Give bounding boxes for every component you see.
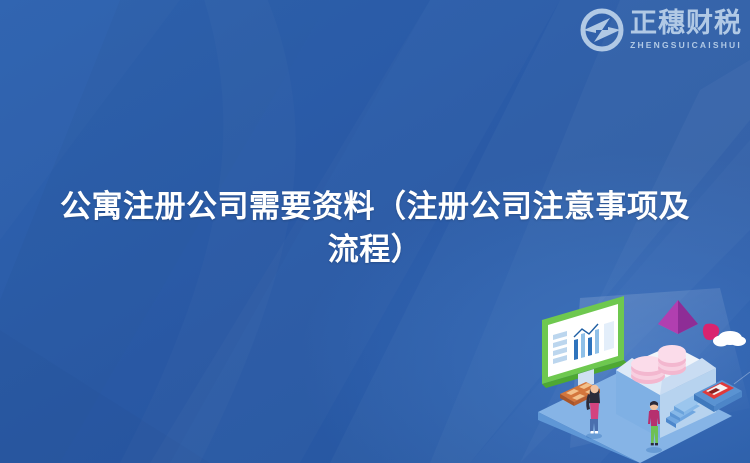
- logo-cn-text: 正穗财税: [630, 10, 742, 37]
- logo-en-text: ZHENGSUICAISHUI: [630, 41, 742, 50]
- zhengsui-circle-bolt-icon: [580, 8, 624, 52]
- isometric-illustration-svg: [520, 288, 750, 463]
- screen-panel-right: [604, 321, 614, 351]
- banner-canvas: 正穗财税 ZHENGSUICAISHUI 公寓注册公司需要资料（注册公司注意事项…: [0, 0, 750, 463]
- isometric-illustration: [520, 288, 750, 463]
- logo-wordmark: 正穗财税 ZHENGSUICAISHUI: [630, 10, 742, 50]
- brand-logo[interactable]: 正穗财税 ZHENGSUICAISHUI: [580, 8, 742, 52]
- page-title: 公寓注册公司需要资料（注册公司注意事项及流程）: [50, 186, 700, 272]
